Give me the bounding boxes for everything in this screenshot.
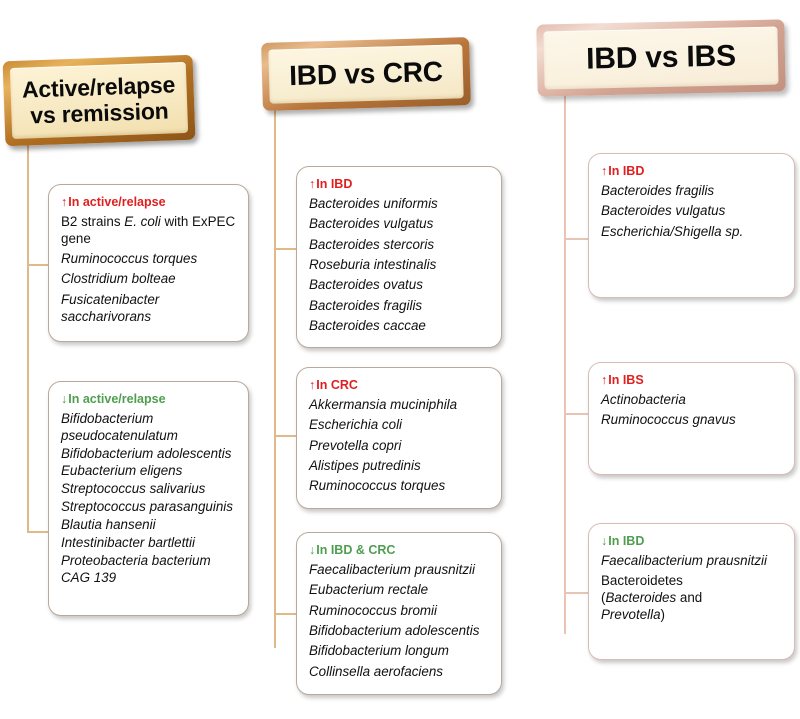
taxa-list: Akkermansia muciniphilaEscherichia coliP… (309, 397, 489, 495)
taxa-item: Ruminococcus bromii (309, 603, 489, 620)
taxa-item: Bacteroides fragilis (309, 298, 489, 315)
taxa-list: Faecalibacterium prausnitziiEubacterium … (309, 562, 489, 681)
connector-branch-col3-card3 (564, 592, 588, 594)
header-plaque-face: IBD vs IBS (543, 27, 778, 90)
column-header-label: IBD vs CRC (281, 56, 451, 92)
card-down-active-relapse[interactable]: ↓In active/relapse Bifidobacterium pseud… (48, 381, 249, 616)
taxa-item: Streptococcus parasanguinis (61, 499, 236, 516)
taxa-item: Ruminococcus torques (61, 251, 236, 268)
header-plaque-face: IBD vs CRC (268, 44, 463, 103)
taxa-item: Fusicatenibacter saccharivorans (61, 292, 236, 326)
card-up-active-relapse[interactable]: ↑In active/relapse B2 strains E. coli wi… (48, 184, 249, 342)
taxa-item: Bifidobacterium pseudocatenulatum (61, 411, 236, 445)
card-heading: ↑In CRC (309, 379, 489, 393)
diagram-canvas: Active/relapse vs remission IBD vs CRC I… (0, 0, 800, 719)
taxa-item: Ruminococcus gnavus (601, 412, 782, 429)
card-heading: ↑In active/relapse (61, 196, 236, 210)
taxa-item: Bacteroides vulgatus (601, 203, 782, 220)
taxa-item: Blautia hansenii (61, 517, 236, 534)
taxa-item: Intestinibacter bartlettii (61, 535, 236, 552)
taxa-item: Proteobacteria bacterium CAG 139 (61, 553, 236, 587)
taxa-item: Alistipes putredinis (309, 458, 489, 475)
taxa-item: Actinobacteria (601, 392, 782, 409)
card-heading-text: In CRC (316, 378, 358, 392)
taxa-item: Faecalibacterium prausnitzii (309, 562, 489, 579)
taxa-item: Roseburia intestinalis (309, 257, 489, 274)
header-plaque-face: Active/relapse vs remission (10, 62, 188, 139)
taxa-item: Streptococcus salivarius (61, 481, 236, 498)
card-heading: ↑In IBD (601, 165, 782, 179)
arrow-down-icon: ↓ (601, 535, 607, 549)
card-heading-text: In IBD (316, 177, 352, 191)
arrow-up-icon: ↑ (61, 196, 67, 210)
taxa-item: Bacteroides ovatus (309, 277, 489, 294)
card-heading-text: In IBS (608, 373, 643, 387)
taxa-list: Bacteroides uniformisBacteroides vulgatu… (309, 196, 489, 335)
taxa-item: B2 strains E. coli with ExPEC gene (61, 214, 236, 248)
taxa-item: Bacteroidetes (Bacteroides and Prevotell… (601, 573, 782, 624)
taxa-item: Bifidobacterium longum (309, 643, 489, 660)
taxa-item: Bifidobacterium adolescentis (61, 446, 236, 463)
taxa-item: Akkermansia muciniphila (309, 397, 489, 414)
column-header-label: IBD vs IBS (578, 39, 744, 76)
taxa-list: B2 strains E. coli with ExPEC geneRumino… (61, 214, 236, 326)
card-up-ibs[interactable]: ↑In IBS ActinobacteriaRuminococcus gnavu… (588, 362, 795, 475)
connector-branch-col1-card2 (27, 531, 49, 533)
taxa-item: Prevotella copri (309, 438, 489, 455)
card-up-ibd-2[interactable]: ↑In IBD Bacteroides fragilisBacteroides … (588, 153, 795, 298)
taxa-item: Eubacterium eligens (61, 463, 236, 480)
taxa-item: Eubacterium rectale (309, 582, 489, 599)
connector-branch-col2-card3 (274, 613, 296, 615)
arrow-up-icon: ↑ (309, 178, 315, 192)
taxa-item: Bifidobacterium adolescentis (309, 623, 489, 640)
card-down-ibd-crc[interactable]: ↓In IBD & CRC Faecalibacterium prausnitz… (296, 532, 502, 695)
taxa-item: Escherichia coli (309, 417, 489, 434)
connector-vertical-col3 (564, 94, 566, 634)
card-heading-text: In IBD & CRC (316, 543, 395, 557)
card-down-ibd-2[interactable]: ↓In IBD Faecalibacterium prausnitziiBact… (588, 523, 795, 660)
column-header-active-relapse[interactable]: Active/relapse vs remission (3, 55, 196, 147)
taxa-item: Bacteroides fragilis (601, 183, 782, 200)
card-heading-text: In IBD (608, 534, 644, 548)
card-heading: ↓In active/relapse (61, 393, 236, 407)
column-header-label: Active/relapse vs remission (10, 72, 188, 130)
taxa-item: Bacteroides caccae (309, 318, 489, 335)
card-heading-text: In IBD (608, 164, 644, 178)
arrow-down-icon: ↓ (61, 393, 67, 407)
card-heading: ↓In IBD & CRC (309, 544, 489, 558)
connector-branch-col1-card1 (27, 264, 49, 266)
connector-branch-col2-card1 (274, 248, 296, 250)
card-heading-text: In active/relapse (68, 392, 165, 406)
arrow-up-icon: ↑ (601, 374, 607, 388)
arrow-up-icon: ↑ (309, 379, 315, 393)
taxa-item: Bacteroides uniformis (309, 196, 489, 213)
taxa-item: Ruminococcus torques (309, 478, 489, 495)
arrow-up-icon: ↑ (601, 165, 607, 179)
taxa-list: Bifidobacterium pseudocatenulatumBifidob… (61, 411, 236, 587)
card-heading: ↑In IBD (309, 178, 489, 192)
card-heading-text: In active/relapse (68, 195, 165, 209)
taxa-item: Bacteroides vulgatus (309, 216, 489, 233)
taxa-item: Faecalibacterium prausnitzii (601, 553, 782, 570)
card-heading: ↓In IBD (601, 535, 782, 549)
taxa-item: Bacteroides stercoris (309, 237, 489, 254)
taxa-item: Clostridium bolteae (61, 271, 236, 288)
column-header-ibd-vs-ibs[interactable]: IBD vs IBS (536, 19, 785, 96)
column-header-ibd-vs-crc[interactable]: IBD vs CRC (261, 37, 471, 111)
card-up-crc[interactable]: ↑In CRC Akkermansia muciniphilaEscherich… (296, 367, 502, 509)
card-up-ibd[interactable]: ↑In IBD Bacteroides uniformisBacteroides… (296, 166, 502, 348)
connector-branch-col2-card2 (274, 435, 296, 437)
taxa-list: Bacteroides fragilisBacteroides vulgatus… (601, 183, 782, 241)
taxa-list: ActinobacteriaRuminococcus gnavus (601, 392, 782, 429)
connector-branch-col3-card2 (564, 413, 588, 415)
card-heading: ↑In IBS (601, 374, 782, 388)
connector-branch-col3-card1 (564, 238, 588, 240)
connector-vertical-col2 (274, 108, 276, 648)
taxa-item: Escherichia/Shigella sp. (601, 224, 782, 241)
arrow-down-icon: ↓ (309, 544, 315, 558)
connector-vertical-col1 (27, 143, 29, 533)
taxa-item: Collinsella aerofaciens (309, 664, 489, 681)
taxa-list: Faecalibacterium prausnitziiBacteroidete… (601, 553, 782, 624)
